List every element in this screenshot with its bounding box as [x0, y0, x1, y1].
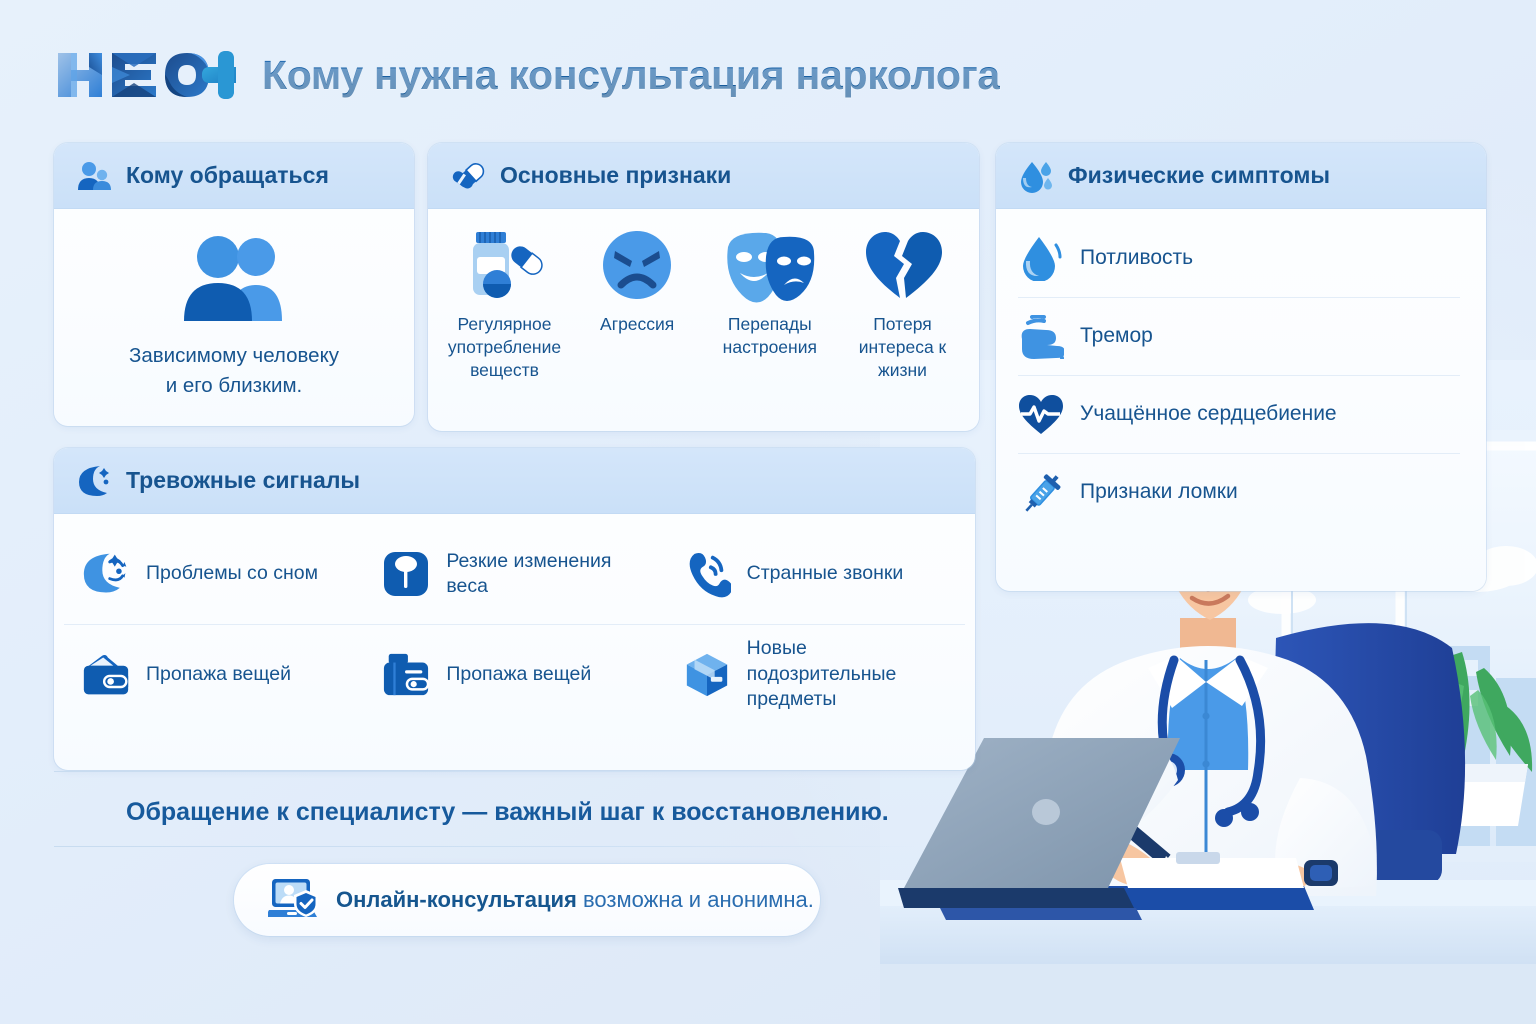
footer-statement-row: Обращение к специалисту — важный шаг к в… [54, 790, 934, 834]
phone-call-icon [683, 549, 731, 599]
angry-face-icon [599, 227, 675, 303]
clipboard [1106, 852, 1314, 910]
laptop-verified-icon [268, 876, 320, 924]
pill-bottle-icon [464, 226, 546, 304]
card-physical-title: Физические симптомы [1068, 162, 1330, 189]
parcel-box-icon [683, 650, 731, 700]
badge-strong-text: Онлайн-консультация [336, 887, 577, 912]
card-warnings-body: Проблемы со сном Резкие изменения веса [54, 514, 975, 732]
people-pair-icon [76, 158, 112, 194]
pills-icon [450, 158, 486, 194]
list-item-label: Учащённое сердцебиение [1080, 401, 1337, 428]
warning-item: Новые подозрительные предметы [665, 624, 965, 724]
warning-item: Пропажа вещей [364, 624, 664, 724]
warning-label: Странные звонки [747, 561, 904, 586]
droplet-icon [1020, 235, 1062, 281]
warning-item: Проблемы со сном [64, 524, 364, 624]
sign-label: Перепады настроения [707, 313, 832, 359]
online-consultation-badge[interactable]: Онлайн-консультация возможна и анонимна. [234, 864, 820, 936]
warning-label: Пропажа вещей [146, 662, 291, 687]
card-signs-title: Основные признаки [500, 162, 731, 189]
infographic-canvas: Кому нужна консультация нарколога Кому о… [0, 0, 1536, 1024]
sign-item: Агрессия [575, 223, 700, 336]
card-physical-header: Физические симптомы [996, 143, 1486, 209]
audience-text-line-2: и его близким. [129, 371, 339, 401]
water-drops-icon [1018, 158, 1054, 194]
card-audience-header: Кому обращаться [54, 143, 414, 209]
online-consultation-text: Онлайн-консультация возможна и анонимна. [336, 887, 814, 913]
badge-rest-text: возможна и анонимна. [583, 887, 814, 912]
warning-item: Странные звонки [665, 524, 965, 624]
sign-item: Регулярное употребление веществ [442, 223, 567, 382]
card-physical: Физические симптомы Потливость [996, 143, 1486, 591]
warning-label: Пропажа вещей [446, 662, 591, 687]
card-audience-body: Зависимому человеку и его близким. [54, 209, 414, 420]
closed-wallet-icon [382, 651, 430, 699]
card-audience-text: Зависимому человеку и его близким. [129, 341, 339, 400]
broken-heart-icon [862, 228, 942, 302]
sign-label: Регулярное употребление веществ [442, 313, 567, 382]
open-wallet-icon [82, 652, 130, 698]
list-item: Потливость [1018, 219, 1460, 297]
weight-scale-icon [382, 550, 430, 598]
footer-divider-top [54, 771, 914, 772]
warning-item: Пропажа вещей [64, 624, 364, 724]
card-signs-body: Регулярное употребление веществ Агрессия [428, 209, 979, 392]
sign-item: Потеря интереса к жизни [840, 223, 965, 382]
wristwatch [1304, 860, 1338, 886]
card-warnings-title: Тревожные сигналы [126, 467, 360, 494]
sign-label: Агрессия [600, 313, 674, 336]
card-physical-body: Потливость Тремор [996, 209, 1486, 541]
warning-item: Резкие изменения веса [364, 524, 664, 624]
sign-item: Перепады настроения [707, 223, 832, 359]
page-title: Кому нужна консультация нарколога [262, 52, 1000, 99]
list-item-label: Тремор [1080, 323, 1153, 350]
list-item: Учащённое сердцебиение [1018, 375, 1460, 453]
theatre-masks-icon [722, 227, 818, 303]
shaking-hand-icon [1018, 315, 1064, 359]
card-audience: Кому обращаться Зависимому человеку и ег… [54, 143, 414, 426]
syringe-icon [1019, 470, 1063, 516]
sign-label: Потеря интереса к жизни [840, 313, 965, 382]
page-header: Кому нужна консультация нарколога [54, 36, 1000, 114]
footer-divider-bottom [54, 846, 914, 847]
list-item: Тремор [1018, 297, 1460, 375]
crescent-moon-icon [76, 463, 112, 499]
neo-plus-logo-icon [54, 45, 236, 105]
warning-label: Проблемы со сном [146, 561, 318, 586]
audience-text-line-1: Зависимому человеку [129, 341, 339, 371]
card-signs: Основные признаки [428, 143, 979, 431]
list-item: Признаки ломки [1018, 453, 1460, 531]
card-signs-header: Основные признаки [428, 143, 979, 209]
people-big-icon [172, 231, 296, 323]
card-audience-title: Кому обращаться [126, 162, 329, 189]
footer-statement: Обращение к специалисту — важный шаг к в… [54, 798, 889, 827]
warning-label: Новые подозрительные предметы [747, 636, 949, 712]
card-warnings: Тревожные сигналы [54, 448, 975, 770]
list-item-label: Признаки ломки [1080, 479, 1238, 506]
card-warnings-header: Тревожные сигналы [54, 448, 975, 514]
heartbeat-icon [1018, 394, 1064, 436]
warning-label: Резкие изменения веса [446, 549, 648, 600]
list-item-label: Потливость [1080, 245, 1193, 272]
moon-sleep-icon [82, 549, 130, 599]
